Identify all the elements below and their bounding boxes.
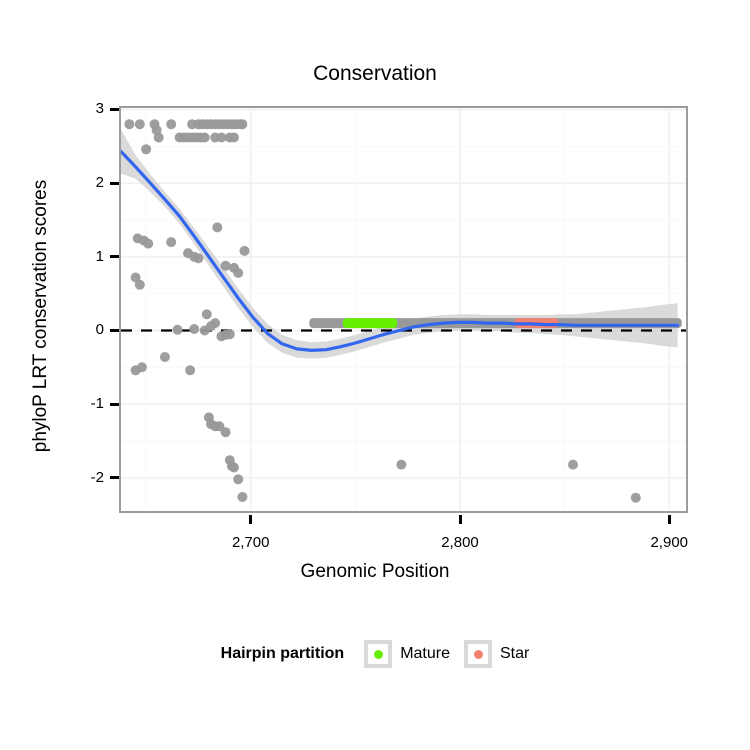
y-tick-mark (110, 329, 119, 332)
y-tick-label: -1 (64, 395, 104, 412)
legend-item-star[interactable]: Star (464, 640, 529, 668)
x-tick-label: 2,700 (216, 534, 286, 551)
y-tick-label: 2 (64, 174, 104, 191)
legend: Hairpin partition Mature Star (0, 640, 750, 668)
x-tick-mark (459, 515, 462, 524)
legend-title: Hairpin partition (221, 645, 345, 663)
y-tick-label: 0 (64, 321, 104, 338)
y-tick-label: 3 (64, 100, 104, 117)
legend-item-mature[interactable]: Mature (364, 640, 450, 668)
star-dot-icon (474, 650, 483, 659)
y-tick-mark (110, 108, 119, 111)
legend-key-inner-star (468, 644, 488, 664)
legend-key-mature (364, 640, 392, 668)
legend-label-mature: Mature (400, 645, 450, 663)
legend-key-inner-mature (368, 644, 388, 664)
x-tick-label: 2,800 (425, 534, 495, 551)
y-tick-label: 1 (64, 248, 104, 265)
y-tick-mark (110, 403, 119, 406)
x-axis-label: Genomic Position (0, 561, 750, 583)
x-tick-label: 2,900 (634, 534, 704, 551)
x-tick-mark (668, 515, 671, 524)
legend-key-star (464, 640, 492, 668)
conservation-chart-figure: Conservation phyloP LRT conservation sco… (0, 0, 750, 750)
y-tick-mark (110, 182, 119, 185)
y-tick-mark (110, 476, 119, 479)
y-tick-label: -2 (64, 469, 104, 486)
x-tick-mark (249, 515, 252, 524)
mature-dot-icon (374, 650, 383, 659)
y-tick-mark (110, 255, 119, 258)
plot-panel (119, 106, 688, 513)
y-axis-label: phyloP LRT conservation scores (30, 136, 52, 496)
chart-title: Conservation (0, 62, 750, 86)
legend-label-star: Star (500, 645, 529, 663)
